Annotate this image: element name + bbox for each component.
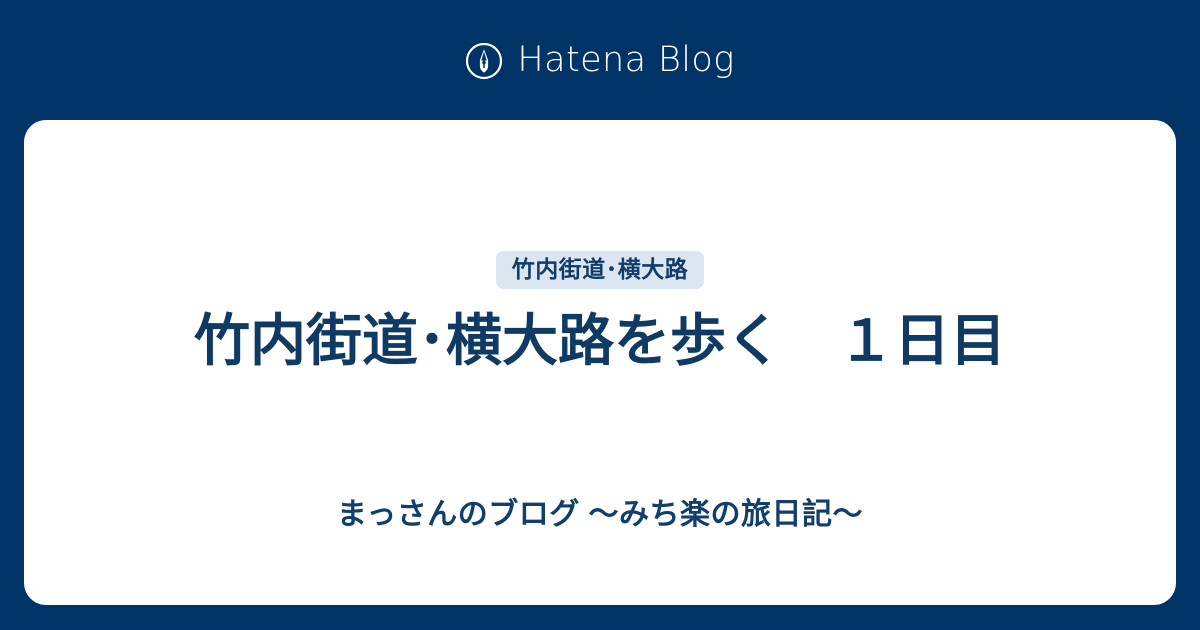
hatena-blog-brand-bar: Hatena Blog <box>0 0 1200 120</box>
blog-subtitle-row: まっさんのブログ ～みち楽の旅日記～ <box>24 495 1176 534</box>
category-tag-row: 竹内街道･横大路 <box>24 251 1176 289</box>
category-tag[interactable]: 竹内街道･横大路 <box>496 251 705 289</box>
brand-name-label: Hatena Blog <box>517 43 734 78</box>
card-inner: 竹内街道･横大路 竹内街道･横大路を歩く １日目 まっさんのブログ ～みち楽の旅… <box>24 120 1176 605</box>
fountain-pen-nib-circle-icon <box>465 42 503 80</box>
blog-subtitle: まっさんのブログ ～みち楽の旅日記～ <box>337 495 863 534</box>
content-card: 竹内街道･横大路 竹内街道･横大路を歩く １日目 まっさんのブログ ～みち楽の旅… <box>24 120 1176 605</box>
entry-title-row: 竹内街道･横大路を歩く １日目 <box>24 306 1176 376</box>
og-image-card: Hatena Blog 竹内街道･横大路 竹内街道･横大路を歩く １日目 まっさ… <box>0 0 1200 630</box>
entry-title: 竹内街道･横大路を歩く １日目 <box>194 306 1006 376</box>
